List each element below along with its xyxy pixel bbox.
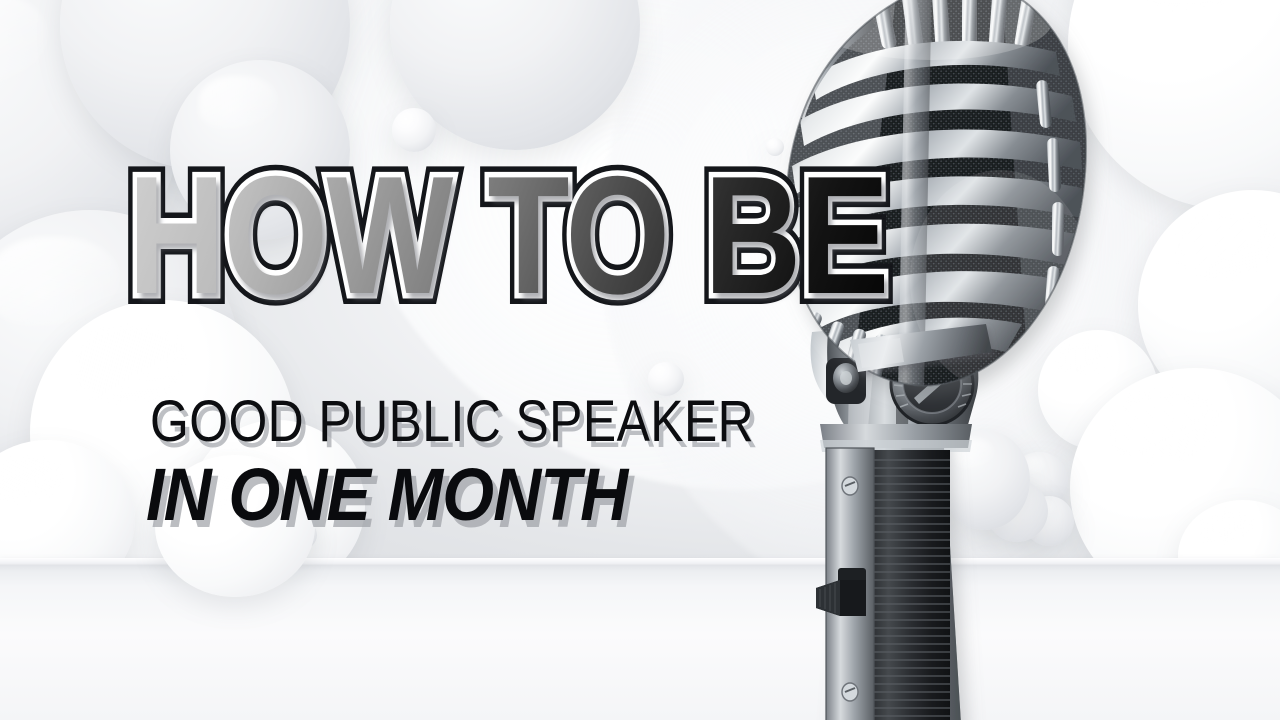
thumbnail-canvas: HOW TO BE HOW TO BE HOW TO BE GOOD PUBLI…: [0, 0, 1280, 720]
background-bubble: [648, 362, 684, 396]
microphone-grip: [816, 448, 950, 720]
background-sphere: [170, 60, 350, 240]
microphone: [700, 0, 1180, 720]
background-bubble: [392, 108, 436, 152]
microphone-illustration: [700, 0, 1180, 720]
background-sphere: [155, 455, 315, 597]
